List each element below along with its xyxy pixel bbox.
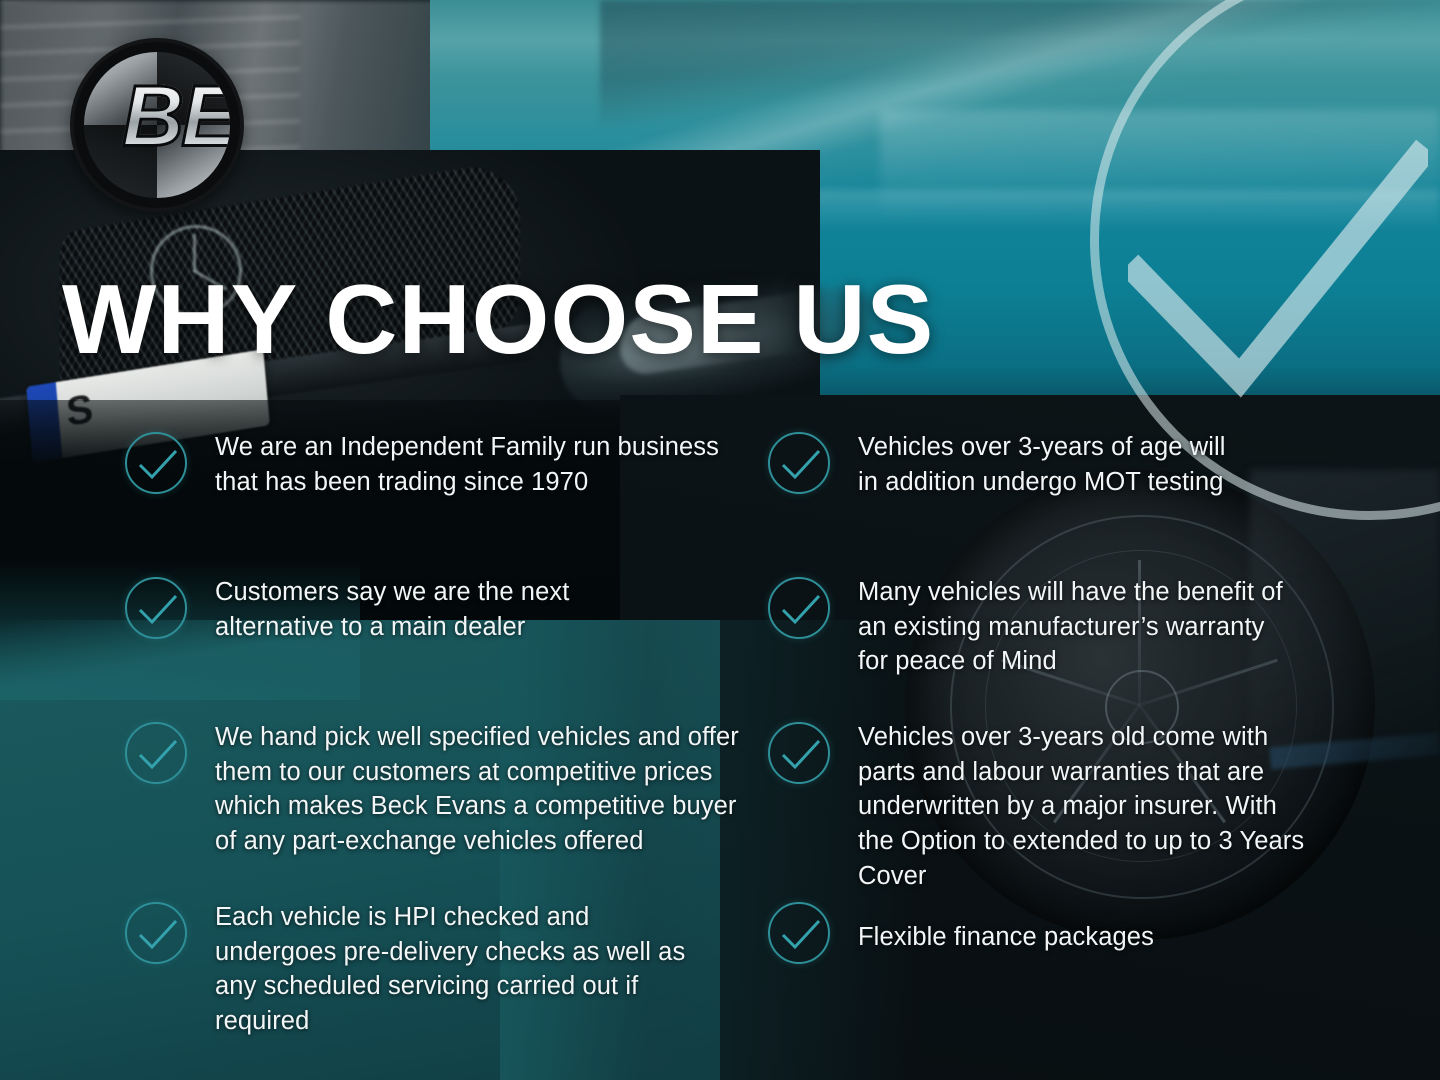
- benefit-text: Vehicles over 3-years of age will in add…: [858, 430, 1238, 499]
- hero-check-mark-icon: [1128, 138, 1428, 438]
- logo-monogram: BE: [84, 68, 230, 167]
- slide-why-choose-us: S BE WHY CHOOSE: [0, 0, 1440, 1080]
- check-icon: [125, 722, 187, 784]
- check-icon: [768, 432, 830, 494]
- benefit-item: We hand pick well specified vehicles and…: [125, 720, 745, 859]
- benefit-item: Vehicles over 3-years old come with part…: [768, 720, 1388, 893]
- check-icon: [768, 902, 830, 964]
- page-title: WHY CHOOSE US: [62, 270, 934, 368]
- benefit-text: We are an Independent Family run busines…: [215, 430, 745, 499]
- benefit-item: Vehicles over 3-years of age will in add…: [768, 430, 1388, 499]
- benefit-text: Many vehicles will have the benefit of a…: [858, 575, 1288, 679]
- check-icon: [125, 902, 187, 964]
- benefit-item: Flexible finance packages: [768, 900, 1388, 964]
- benefit-text: Customers say we are the next alternativ…: [215, 575, 575, 644]
- brand-logo[interactable]: BE: [74, 42, 240, 208]
- check-icon: [768, 577, 830, 639]
- benefit-text: Vehicles over 3-years old come with part…: [858, 720, 1308, 893]
- benefit-item: We are an Independent Family run busines…: [125, 430, 745, 499]
- benefit-item: Customers say we are the next alternativ…: [125, 575, 745, 644]
- benefit-text: Each vehicle is HPI checked and undergoe…: [215, 900, 715, 1039]
- check-icon: [125, 432, 187, 494]
- logo-roundel: BE: [84, 52, 230, 198]
- check-icon: [125, 577, 187, 639]
- benefit-text: We hand pick well specified vehicles and…: [215, 720, 745, 859]
- benefit-text: Flexible finance packages: [858, 920, 1154, 955]
- benefit-item: Each vehicle is HPI checked and undergoe…: [125, 900, 745, 1039]
- check-icon: [768, 722, 830, 784]
- benefit-item: Many vehicles will have the benefit of a…: [768, 575, 1388, 679]
